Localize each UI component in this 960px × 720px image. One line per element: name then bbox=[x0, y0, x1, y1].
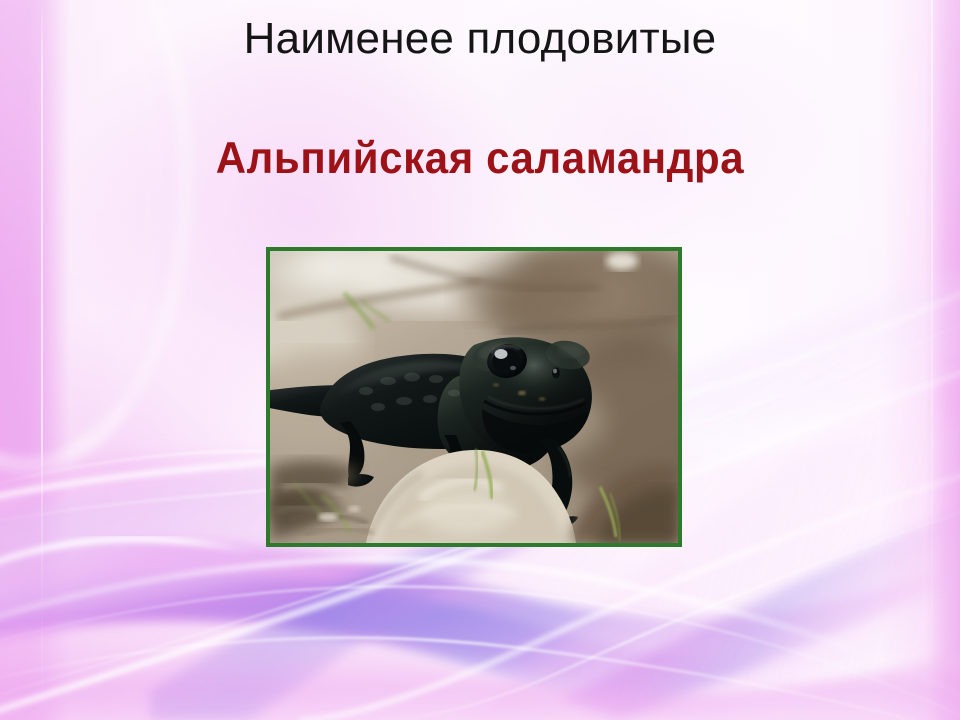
photo-frame bbox=[266, 247, 682, 547]
salamander-photo-illustration bbox=[270, 251, 678, 543]
slide-title: Наименее плодовитые bbox=[0, 14, 960, 64]
salamander-photo bbox=[270, 251, 678, 543]
slide: Наименее плодовитые Альпийская саламандр… bbox=[0, 0, 960, 720]
slide-subtitle: Альпийская саламандра bbox=[0, 132, 960, 185]
